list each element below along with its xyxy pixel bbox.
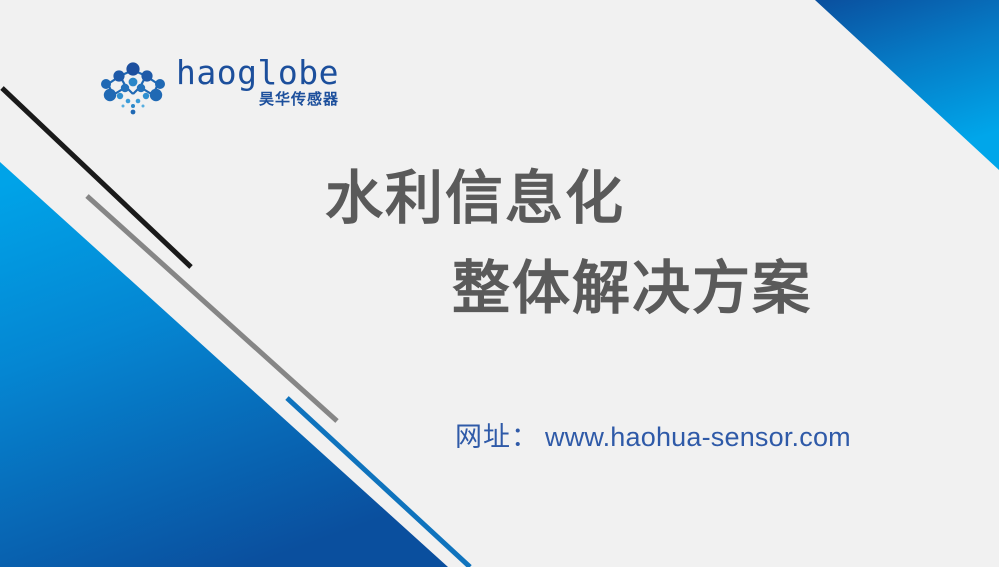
website-label: 网址： xyxy=(455,420,539,454)
network-nodes-icon xyxy=(96,60,170,118)
slide-title: 水利信息化 整体解决方案 xyxy=(0,162,880,326)
logo-wordmark: haoglobe xyxy=(176,56,339,90)
title-line-1: 水利信息化 xyxy=(325,162,880,236)
website-url[interactable]: www.haohua-sensor.com xyxy=(545,420,851,454)
website-line: 网址： www.haohua-sensor.com xyxy=(455,420,851,454)
logo-text-block: haoglobe 昊华传感器 xyxy=(176,56,339,108)
presentation-title-slide: haoglobe 昊华传感器 水利信息化 整体解决方案 网址： www.haoh… xyxy=(0,0,999,567)
company-logo: haoglobe 昊华传感器 xyxy=(96,56,326,122)
logo-chinese-name: 昊华传感器 xyxy=(259,91,339,108)
title-line-2: 整体解决方案 xyxy=(452,252,880,326)
